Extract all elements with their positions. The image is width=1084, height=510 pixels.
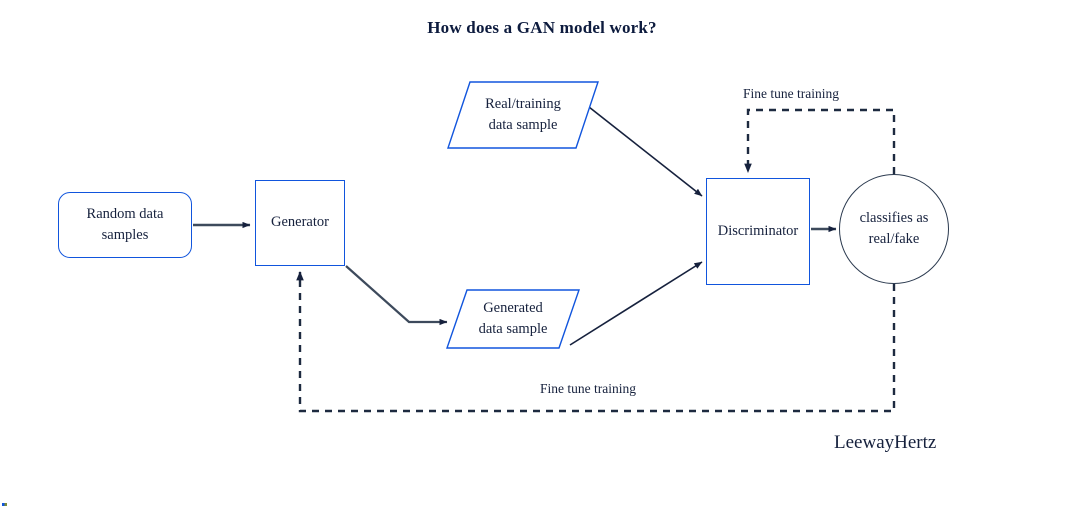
node-real-training-sample[interactable]: Real/training data sample: [448, 82, 598, 148]
node-real-training-sample-label: Real/training data sample: [485, 94, 561, 136]
node-random-data-samples-label: Random data samples: [87, 204, 164, 246]
brand-watermark: LeewayHertz: [834, 432, 936, 454]
diagram-canvas: How does a GAN model work? Random data s…: [0, 0, 1084, 510]
edge-fine-tune-top: [748, 110, 894, 174]
edge-label-fine-tune-top: Fine tune training: [743, 86, 839, 102]
edge-generated-to-discriminator: [570, 262, 702, 345]
node-discriminator-label: Discriminator: [718, 221, 799, 242]
corner-marker: [2, 503, 7, 506]
node-generator[interactable]: Generator: [255, 180, 345, 266]
node-generated-sample-label: Generated data sample: [479, 298, 548, 340]
node-random-data-samples[interactable]: Random data samples: [58, 192, 192, 258]
node-generated-sample[interactable]: Generated data sample: [447, 290, 579, 348]
edge-label-fine-tune-bottom: Fine tune training: [540, 381, 636, 397]
node-classifies-real-fake[interactable]: classifies as real/fake: [839, 174, 949, 284]
node-generator-label: Generator: [271, 212, 329, 233]
node-discriminator[interactable]: Discriminator: [706, 178, 810, 285]
edge-generator-to-generated: [346, 266, 447, 322]
node-classifies-real-fake-label: classifies as real/fake: [860, 208, 929, 250]
edge-real-to-discriminator: [589, 107, 702, 196]
